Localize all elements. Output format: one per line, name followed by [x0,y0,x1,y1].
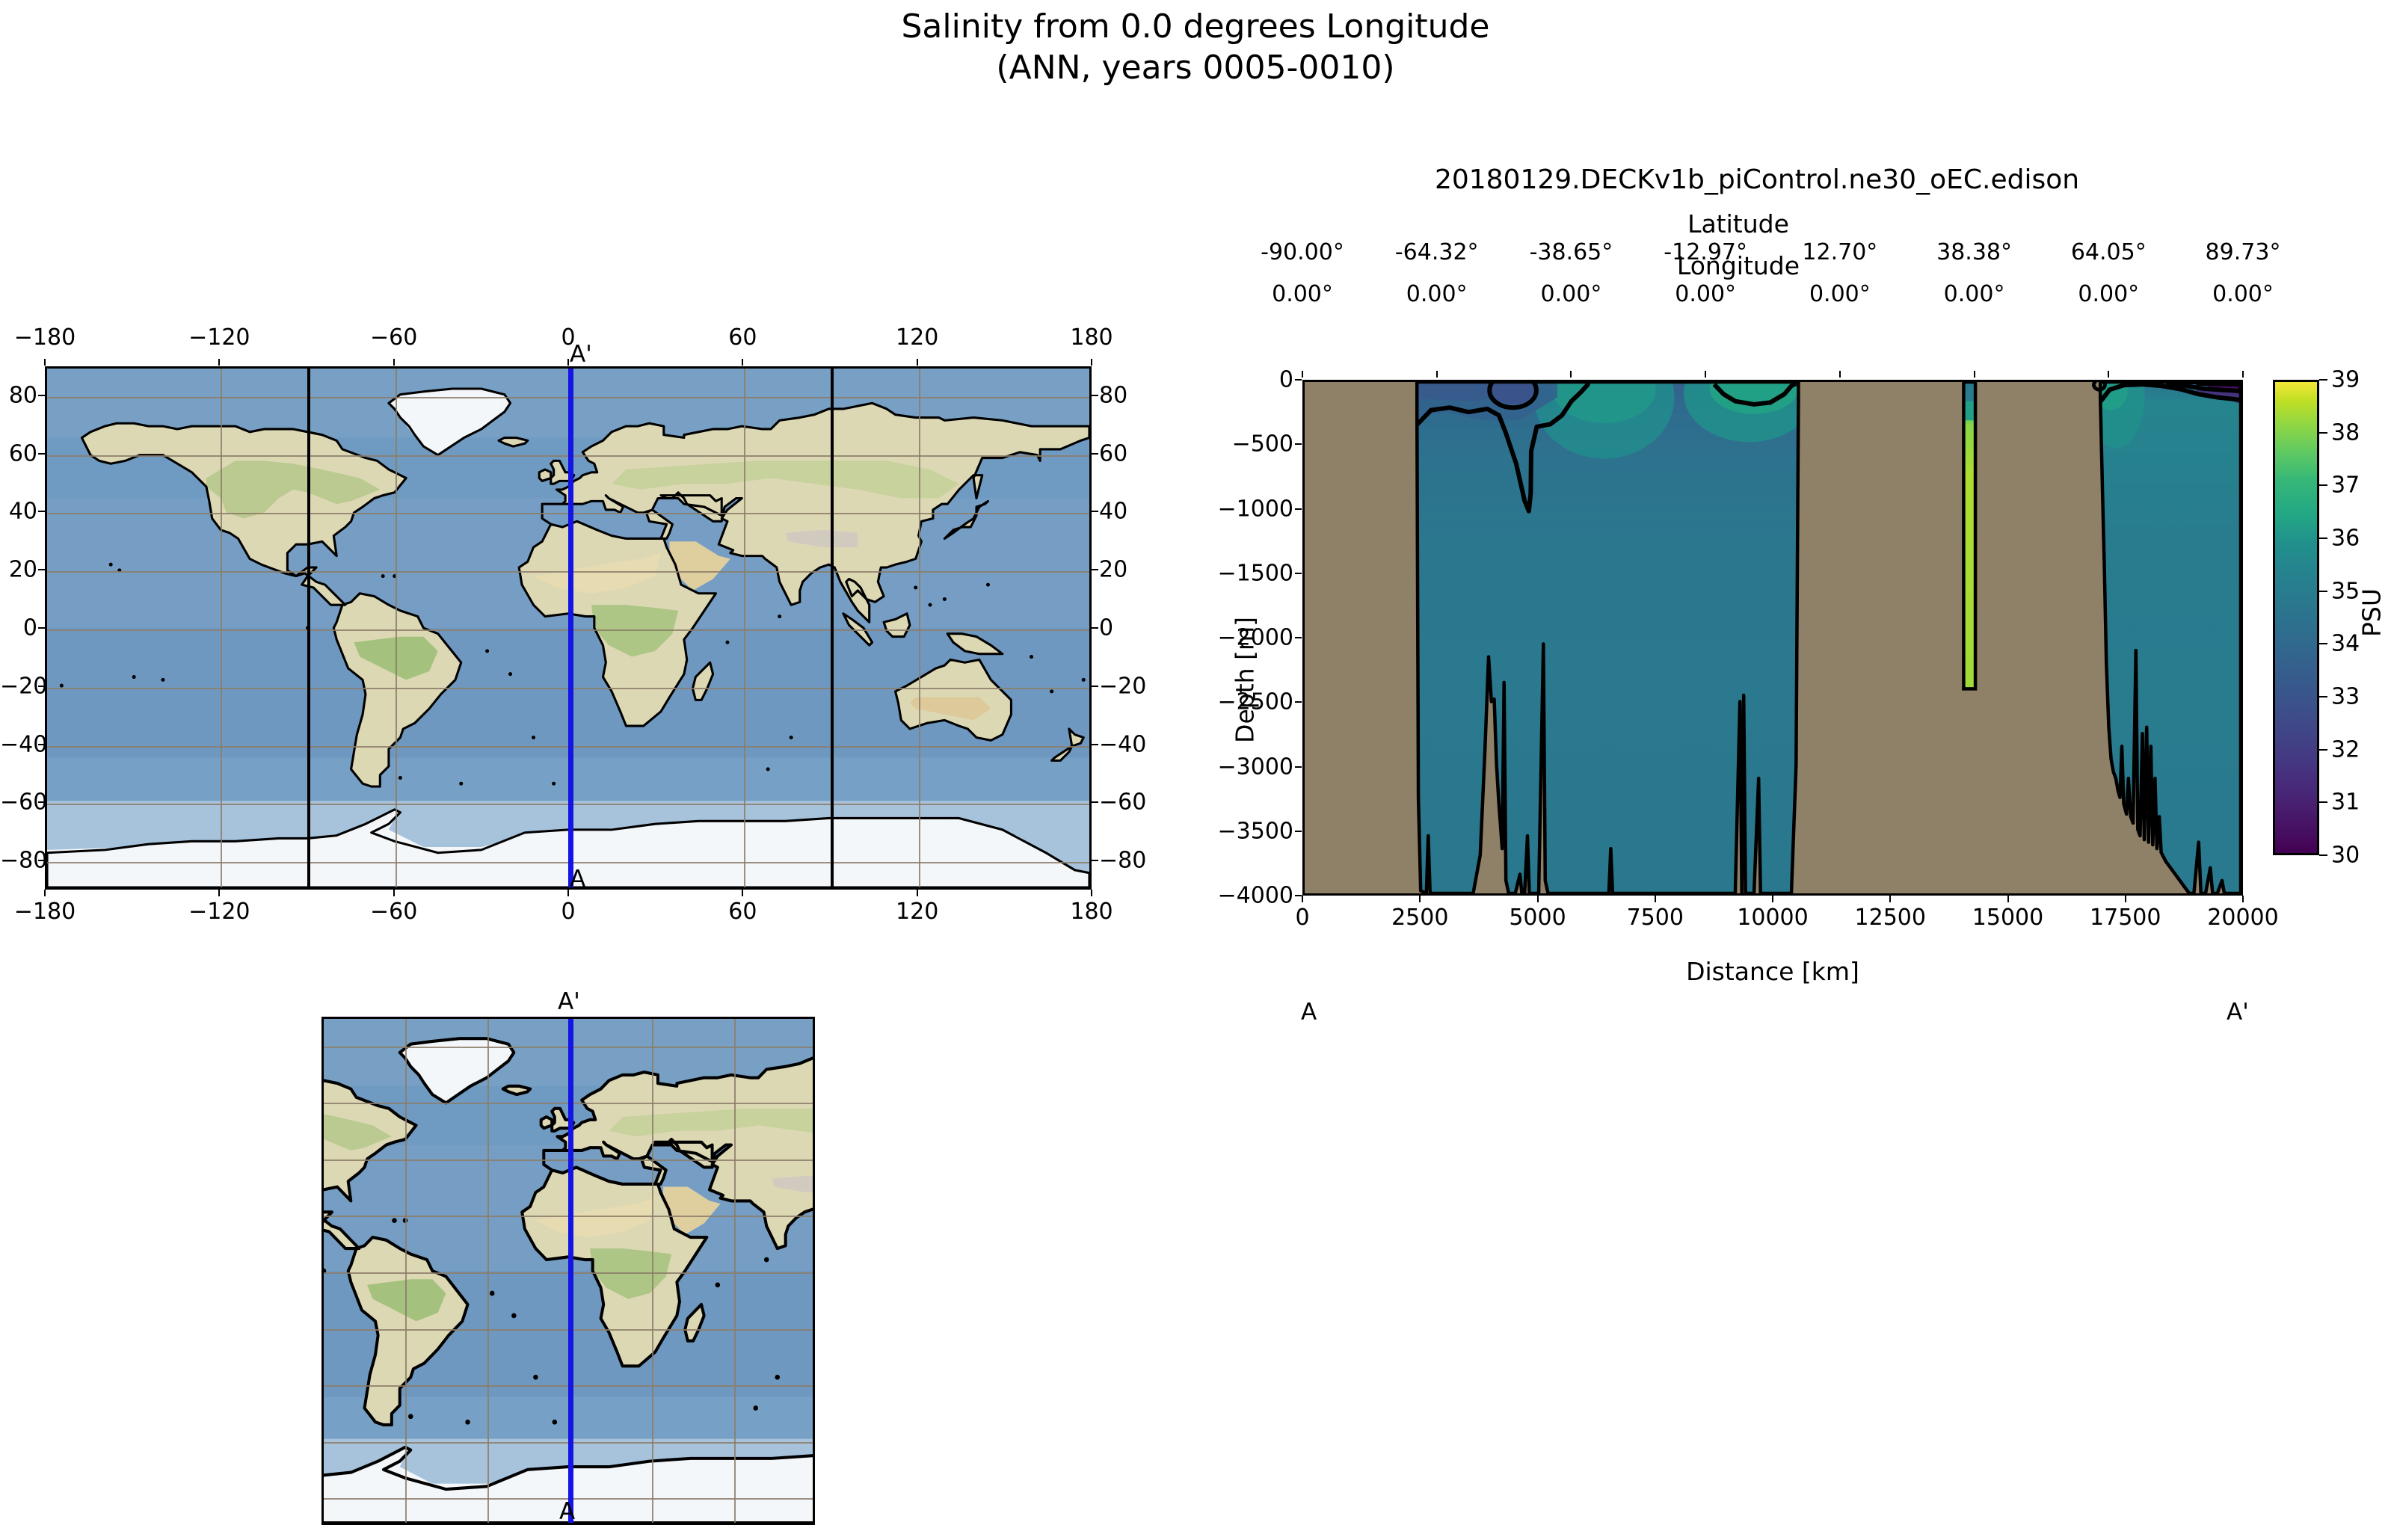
map-tickmark [38,860,45,861]
colorbar-tickmark [2319,854,2327,856]
psu-colorbar[interactable] [2273,380,2319,855]
inset-graticule-meridian [405,1019,407,1523]
longitude-tick-label: 0.00° [1944,281,2005,307]
depth-axis-label: Depth [m] [1231,606,1260,755]
map-lat-tick-left: 40 [0,499,37,525]
distance-tick-label: 5000 [1509,905,1566,931]
map-graticule-meridian [396,369,397,887]
map-graticule-meridian [919,369,920,887]
map-tickmark [38,453,45,455]
xsec-left-tickmark [1295,637,1302,638]
map-lon-tick-bottom: 0 [561,899,575,925]
map-lat-tick-right: 80 [1099,382,1127,408]
longitude-axis-label: Longitude [1196,251,2280,280]
inset-transect-line [568,1019,573,1523]
map-lat-tick-right: 40 [1099,499,1127,525]
xsec-bottom-tickmark [1302,896,1303,902]
map-lon-tick-top: 60 [728,324,757,351]
map-lon-tick-bottom: 60 [728,899,757,925]
inset-graticule-meridian [487,1019,489,1523]
xsec-left-tickmark [1295,508,1302,510]
colorbar-tick-label: 34 [2331,631,2360,657]
colorbar-tick-label: 33 [2331,684,2360,710]
depth-tick-label: −1500 [1204,560,1293,586]
map-tickmark [1092,453,1098,455]
colorbar-tickmark [2319,696,2327,697]
distance-tick-label: 10000 [1737,905,1808,931]
distance-tick-label: 7500 [1627,905,1684,931]
salinity-field-graphic [1305,382,2241,893]
colorbar-tick-label: 35 [2331,578,2360,604]
map-lon-tick-top: 120 [896,324,938,351]
xsec-left-tickmark [1295,379,1302,381]
cross-section-end-label: A' [2227,999,2249,1026]
map-lon-tick-bottom: 180 [1070,899,1113,925]
depth-tick-label: 0 [1204,367,1293,393]
map-tickmark [567,359,569,366]
map-lon-tick-top: −60 [370,324,417,351]
xsec-top-tickmark [1974,371,1975,378]
map-lon-tick-bottom: −60 [370,899,417,925]
inset-graticule-meridian [652,1019,653,1523]
map-tickmark [742,890,743,896]
xsec-top-tickmark [1302,371,1303,378]
colorbar-tickmark [2319,801,2327,803]
cross-section-panel: Latitude -90.00°-64.32°-38.65°-12.97°12.… [1196,209,2280,1002]
map-tickmark [1092,627,1098,629]
xsec-top-tickmark [2108,371,2109,378]
colorbar-tickmark [2319,432,2327,434]
colorbar-tick-label: 38 [2331,419,2360,446]
depth-tick-label: −500 [1204,431,1293,458]
distance-axis-label: Distance [km] [1302,957,2243,986]
xsec-bottom-tickmark [2007,896,2009,902]
longitude-tick-label: 0.00° [2212,281,2274,307]
map-lat-tick-left: 0 [0,615,37,641]
longitude-tick-label: 0.00° [1272,281,1333,307]
map-tickmark [38,395,45,396]
xsec-bottom-tickmark [2125,896,2126,902]
xsec-top-tickmark [1705,371,1706,378]
map-tickmark [1092,395,1098,396]
depth-tick-label: −4000 [1204,883,1293,909]
map-tickmark [38,511,45,512]
xsec-bottom-tickmark [1537,896,1539,902]
map-tickmark [1092,744,1098,745]
map-lon-tick-top: −180 [14,324,76,351]
map-lat-tick-right: 20 [1099,557,1127,583]
map-tickmark [38,801,45,803]
map-lat-tick-left: −20 [0,673,37,699]
figure-title: Salinity from 0.0 degrees Longitude (ANN… [0,6,2391,88]
longitude-tick-label: 0.00° [1809,281,1871,307]
inset-transect-label-bottom: A [559,1498,575,1525]
map-tickmark [917,359,918,366]
xsec-bottom-tickmark [1655,896,1656,902]
transect-label-top: A' [570,341,592,368]
xsec-bottom-tickmark [2242,896,2244,902]
colorbar-tick-label: 32 [2331,736,2360,763]
xsec-left-tickmark [1295,895,1302,896]
map-tickmark [567,890,569,896]
xsec-top-tickmark [1570,371,1572,378]
xsec-top-tickmark [1436,371,1438,378]
longitude-tick-label: 0.00° [1675,281,1736,307]
longitude-tick-label: 0.00° [2078,281,2139,307]
map-lat-tick-left: −60 [0,789,37,816]
map-lon-tick-top: 180 [1070,324,1113,351]
map-lat-tick-right: −60 [1099,789,1146,816]
map-graticule-meridian [221,369,222,887]
map-lat-tick-left: 80 [0,382,37,408]
map-tickmark [38,686,45,687]
colorbar-tickmark [2319,749,2327,751]
depth-tick-label: −3000 [1204,754,1293,780]
map-tickmark [218,359,220,366]
xsec-bottom-tickmark [1772,896,1773,902]
inset-graticule-meridian [734,1019,736,1523]
map-tickmark [1092,801,1098,803]
distance-tick-label: 17500 [2090,905,2161,931]
distance-tick-label: 2500 [1391,905,1448,931]
distance-tick-label: 12500 [1855,905,1926,931]
salinity-cross-section-plot[interactable] [1302,380,2243,896]
run-name-subtitle: 20180129.DECKv1b_piControl.ne30_oEC.edis… [1271,164,2243,195]
xsec-bottom-tickmark [1889,896,1891,902]
colorbar-tickmark [2319,643,2327,644]
xsec-top-tickmark [2242,371,2244,378]
map-tickmark [393,890,395,896]
xsec-left-tickmark [1295,831,1302,832]
map-lat-tick-right: 60 [1099,440,1127,466]
latitude-axis-label: Latitude [1196,209,2280,238]
distance-tick-label: 0 [1295,905,1309,931]
map-lon-tick-bottom: −180 [14,899,76,925]
colorbar-unit-label: PSU [2357,553,2387,673]
map-tickmark [1092,860,1098,861]
map-graticule-meridian [744,369,745,887]
global-map-inset-panel: A' A [284,987,867,1540]
colorbar-tickmark [2319,379,2327,381]
transect-label-bottom: A [570,866,585,893]
xsec-left-tickmark [1295,766,1302,768]
colorbar-tick-label: 31 [2331,789,2360,816]
map-lat-tick-right: −20 [1099,673,1146,699]
map-tickmark [38,627,45,629]
colorbar-tickmark [2319,484,2327,486]
xsec-top-tickmark [1839,371,1841,378]
colorbar-tick-label: 30 [2331,843,2360,869]
map-tickmark [742,359,743,366]
map-tickmark [1092,511,1098,512]
depth-tick-label: −3500 [1204,818,1293,844]
map-lat-tick-left: 60 [0,440,37,466]
map-lat-tick-right: 0 [1099,615,1113,641]
map-lat-tick-right: −40 [1099,731,1146,757]
map-tickmark [38,569,45,570]
xsec-left-tickmark [1295,701,1302,703]
inset-transect-label-top: A' [558,988,580,1015]
figure-title-line1: Salinity from 0.0 degrees Longitude [0,6,2391,47]
distance-tick-label: 20000 [2207,905,2278,931]
map-tickmark [1092,686,1098,687]
figure-title-line2: (ANN, years 0005-0010) [0,47,2391,88]
map-tickmark [38,744,45,745]
map-lat-tick-left: −40 [0,731,37,757]
map-lon-tick-bottom: 120 [896,899,938,925]
map-tickmark [393,359,395,366]
global-map-main-panel: −180−120−60060120180 −180−120−6006012018… [0,314,1136,912]
map-lat-tick-left: 20 [0,557,37,583]
inset-extent-line [307,369,310,887]
depth-tick-label: −1000 [1204,496,1293,522]
global-map-main[interactable] [45,366,1092,890]
colorbar-tick-label: 36 [2331,526,2360,552]
map-tickmark [44,359,46,366]
xsec-left-tickmark [1295,443,1302,445]
map-lat-tick-right: −80 [1099,848,1146,874]
colorbar-tickmark [2319,591,2327,592]
map-lat-tick-left: −80 [0,848,37,874]
inset-extent-line [831,369,834,887]
xsec-bottom-tickmark [1419,896,1421,902]
global-map-inset[interactable] [321,1017,815,1525]
colorbar-tick-label: 39 [2331,367,2360,393]
colorbar-gradient [2275,382,2317,853]
longitude-tick-label: 0.00° [1541,281,1602,307]
xsec-left-tickmark [1295,573,1302,574]
map-tickmark [218,890,220,896]
map-tickmark [1092,569,1098,570]
cross-section-start-label: A [1301,999,1317,1026]
map-tickmark [917,890,918,896]
colorbar-tickmark [2319,538,2327,539]
map-tickmark [44,890,46,896]
longitude-tick-label: 0.00° [1406,281,1468,307]
transect-line [568,369,573,887]
map-tickmark [1091,890,1092,896]
map-tickmark [1091,359,1092,366]
map-lon-tick-top: −120 [188,324,250,351]
colorbar-panel: 30313233343536373839 PSU [2273,359,2391,912]
map-lon-tick-bottom: −120 [188,899,250,925]
distance-tick-label: 15000 [1972,905,2043,931]
colorbar-tick-label: 37 [2331,472,2360,499]
